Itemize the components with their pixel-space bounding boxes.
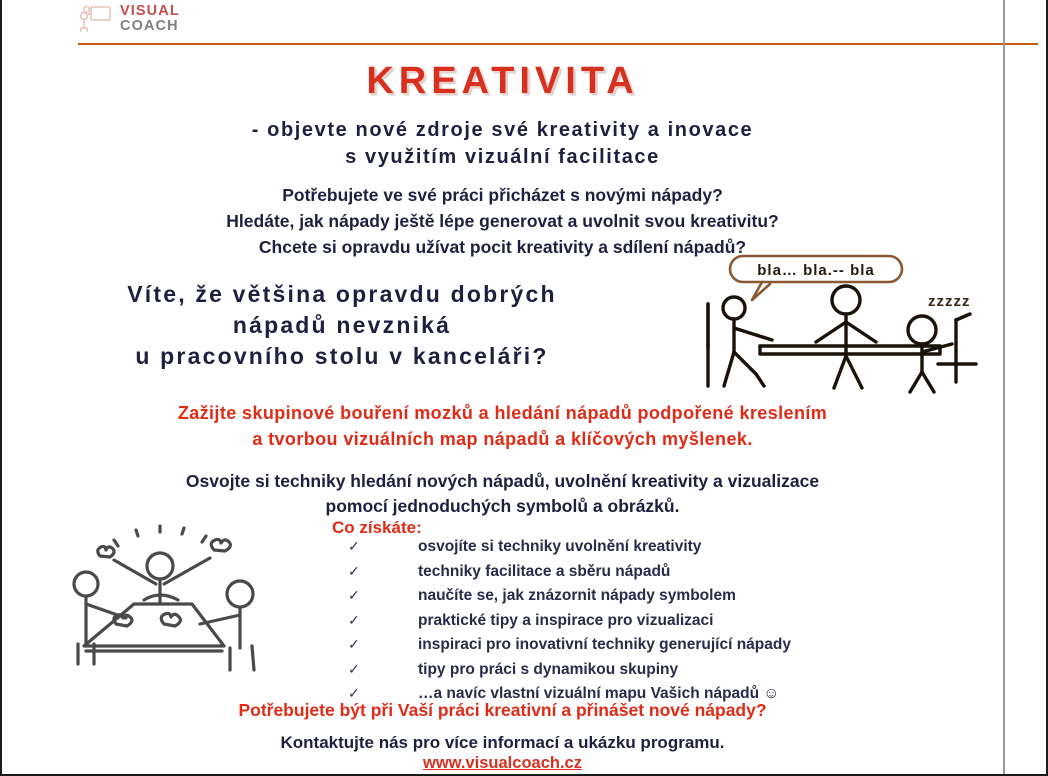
subtitle-line-1: - objevte nové zdroje své kreativity a i… [2, 119, 1003, 142]
list-item-label: osvojíte si techniky uvolnění kreativity [418, 538, 701, 556]
list-item-label: tipy pro práci s dynamikou skupiny [418, 661, 678, 679]
page-header: VISUAL COACH [2, 0, 1048, 48]
check-icon: ✓ [348, 612, 364, 629]
footer-red-question: Potřebujete být při Vaší práci kreativní… [2, 700, 1003, 721]
red-paragraph-line-2: a tvorbou vizuálních map nápadů a klíčov… [2, 429, 1003, 450]
dark-paragraph-line-1: Osvojte si techniky hledání nových nápad… [2, 471, 1003, 492]
stick-figure-meeting-illustration: bla… bla.-- bla [694, 252, 986, 394]
list-item: ✓ naučíte se, jak znázornit nápady symbo… [332, 587, 952, 612]
statement-line-1: Víte, že většina opravdu dobrých [22, 281, 662, 308]
logo-line-visual: VISUAL [120, 4, 180, 19]
logo-wordmark: VISUAL COACH [120, 4, 180, 34]
statement-line-3: u pracovního stolu v kanceláři? [22, 343, 662, 370]
stick-figure-celebration-illustration [64, 520, 304, 680]
flyer-page: VISUAL COACH KREATIVITA - objevte nové z… [0, 0, 1048, 776]
statement-line-2: nápadů nevzniká [22, 312, 662, 339]
flipchart-presenter-icon [78, 4, 112, 34]
list-item-label: naučíte se, jak znázornit nápady symbole… [418, 587, 736, 605]
list-item-label: inspiraci pro inovativní techniky generu… [418, 636, 791, 654]
page-title: KREATIVITA [2, 60, 1003, 103]
check-icon: ✓ [348, 538, 364, 555]
right-vertical-rule [1003, 0, 1005, 776]
footer-contact-text: Kontaktujte nás pro více informací a uká… [2, 733, 1003, 753]
sleep-text: zzzzz [928, 293, 971, 310]
subtitle-line-2: s využitím vizuální facilitace [2, 146, 1003, 169]
check-icon: ✓ [348, 587, 364, 604]
dark-paragraph-line-2: pomocí jednoduchých symbolů a obrázků. [2, 496, 1003, 517]
visual-coach-logo[interactable]: VISUAL COACH [78, 4, 180, 34]
list-item: ✓ praktické tipy a inspirace pro vizuali… [332, 612, 952, 637]
list-item: ✓ tipy pro práci s dynamikou skupiny [332, 661, 952, 686]
check-icon: ✓ [348, 563, 364, 580]
list-item: ✓ techniky facilitace a sběru nápadů [332, 563, 952, 588]
list-item-label: praktické tipy a inspirace pro vizualiza… [418, 612, 713, 630]
header-divider-rule [78, 43, 1038, 45]
benefits-list: ✓ osvojíte si techniky uvolnění kreativi… [332, 538, 952, 710]
list-item: ✓ osvojíte si techniky uvolnění kreativi… [332, 538, 952, 563]
svg-text:bla… bla.-- bla: bla… bla.-- bla [757, 262, 875, 279]
benefits-heading: Co získáte: [332, 518, 422, 538]
logo-line-coach: COACH [120, 19, 180, 34]
list-item-label: techniky facilitace a sběru nápadů [418, 563, 670, 581]
website-link[interactable]: www.visualcoach.cz [2, 754, 1003, 773]
check-icon: ✓ [348, 661, 364, 678]
intro-question-1: Potřebujete ve své práci přicházet s nov… [2, 185, 1003, 206]
list-item: ✓ inspiraci pro inovativní techniky gene… [332, 636, 952, 661]
check-icon: ✓ [348, 636, 364, 653]
red-paragraph-line-1: Zažijte skupinové bouření mozků a hledán… [2, 403, 1003, 424]
intro-question-2: Hledáte, jak nápady ještě lépe generovat… [2, 211, 1003, 232]
